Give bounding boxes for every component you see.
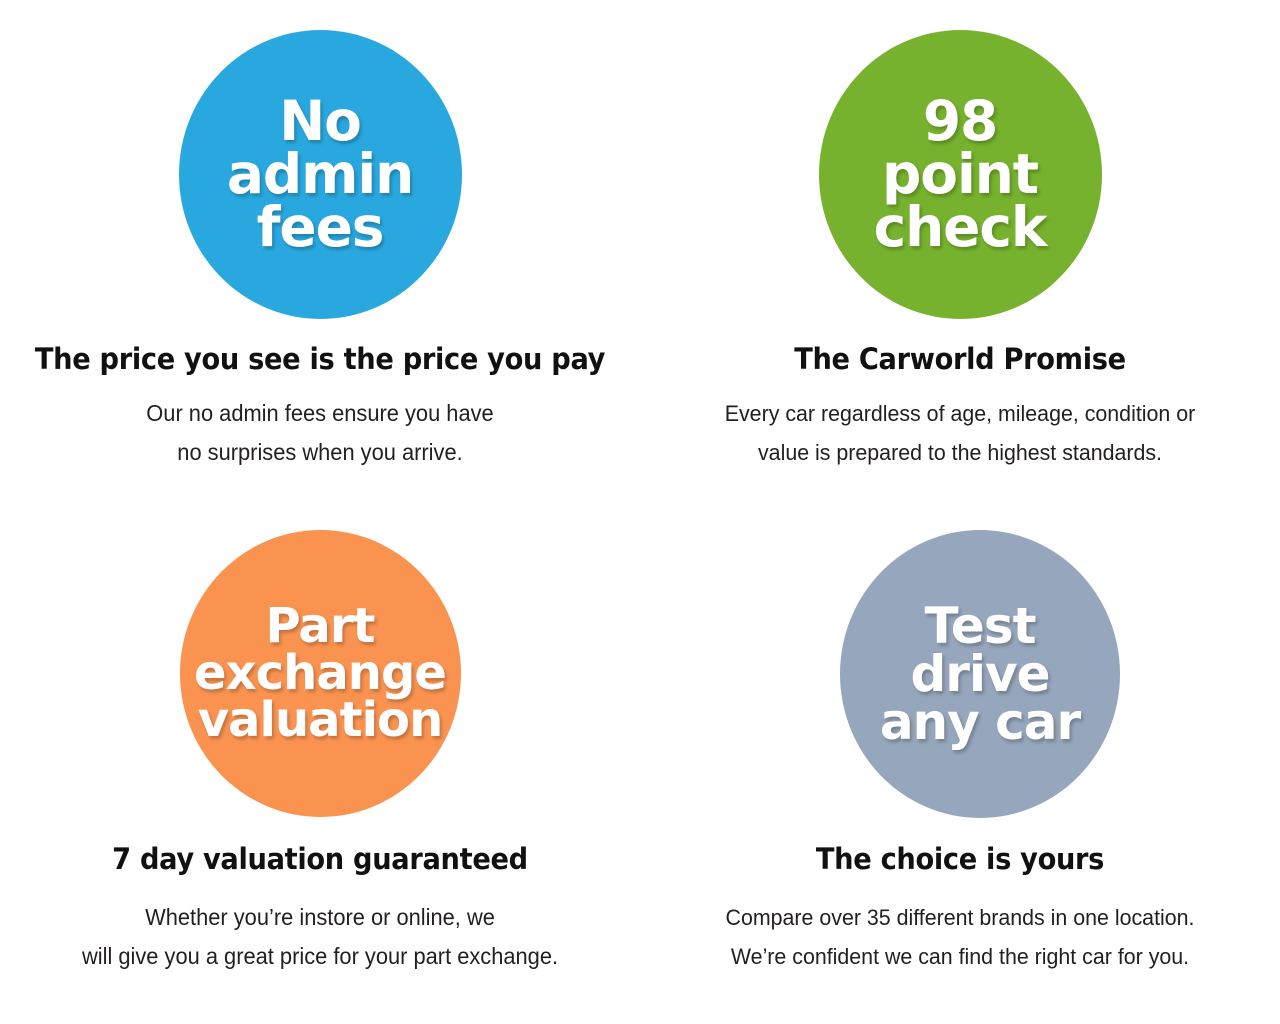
badge-text: 98 point check bbox=[874, 95, 1047, 253]
feature-body: Compare over 35 different brands in one … bbox=[658, 898, 1262, 976]
feature-body-line: no surprises when you arrive. bbox=[16, 433, 624, 472]
badge-line: admin bbox=[227, 148, 413, 201]
feature-heading: 7 day valuation guaranteed bbox=[19, 842, 621, 876]
badge-wrap: No admin fees bbox=[0, 30, 640, 319]
feature-body-line: will give you a great price for your par… bbox=[16, 937, 624, 976]
badge-line: No bbox=[227, 95, 413, 148]
badge-line: check bbox=[874, 201, 1047, 254]
feature-body: Whether you’re instore or online, we wil… bbox=[16, 898, 624, 976]
badge-line: fees bbox=[227, 201, 413, 254]
feature-card-no-admin-fees: No admin fees The price you see is the p… bbox=[0, 0, 640, 512]
badge-line: 98 bbox=[874, 95, 1047, 148]
feature-heading: The choice is yours bbox=[678, 842, 1242, 876]
feature-body-line: Every car regardless of age, mileage, co… bbox=[662, 394, 1259, 433]
badge-line: drive bbox=[880, 650, 1080, 698]
feature-card-98-point-check: 98 point check The Carworld Promise Ever… bbox=[640, 0, 1280, 512]
feature-body-line: Whether you’re instore or online, we bbox=[16, 898, 624, 937]
badge-line: any car bbox=[880, 698, 1080, 746]
badge-text: Part exchange valuation bbox=[194, 603, 446, 744]
feature-heading: The Carworld Promise bbox=[669, 342, 1252, 376]
badge-circle-98-point-check: 98 point check bbox=[819, 30, 1102, 319]
badge-line: point bbox=[874, 148, 1047, 201]
feature-grid: No admin fees The price you see is the p… bbox=[0, 0, 1280, 1024]
badge-text: Test drive any car bbox=[880, 602, 1080, 746]
feature-heading: The price you see is the price you pay bbox=[19, 342, 621, 376]
badge-circle-test-drive-any-car: Test drive any car bbox=[840, 530, 1120, 818]
feature-card-test-drive-any-car: Test drive any car The choice is yours C… bbox=[640, 512, 1280, 1024]
badge-text: No admin fees bbox=[227, 95, 413, 253]
badge-line: Part bbox=[194, 603, 446, 650]
feature-body-line: Compare over 35 different brands in one … bbox=[658, 898, 1262, 937]
feature-body-line: value is prepared to the highest standar… bbox=[662, 433, 1259, 472]
badge-line: Test bbox=[880, 602, 1080, 650]
feature-body-line: Our no admin fees ensure you have bbox=[16, 394, 624, 433]
feature-body: Our no admin fees ensure you have no sur… bbox=[16, 394, 624, 472]
feature-body: Every car regardless of age, mileage, co… bbox=[662, 394, 1259, 472]
feature-card-part-exchange-valuation: Part exchange valuation 7 day valuation … bbox=[0, 512, 640, 1024]
badge-line: valuation bbox=[194, 697, 446, 744]
badge-circle-no-admin-fees: No admin fees bbox=[179, 30, 462, 319]
badge-wrap: Part exchange valuation bbox=[0, 530, 640, 817]
feature-body-line: We’re confident we can find the right ca… bbox=[658, 937, 1262, 976]
badge-circle-part-exchange-valuation: Part exchange valuation bbox=[180, 530, 461, 817]
badge-line: exchange bbox=[194, 650, 446, 697]
badge-wrap: Test drive any car bbox=[680, 530, 1280, 818]
badge-wrap: 98 point check bbox=[660, 30, 1260, 319]
